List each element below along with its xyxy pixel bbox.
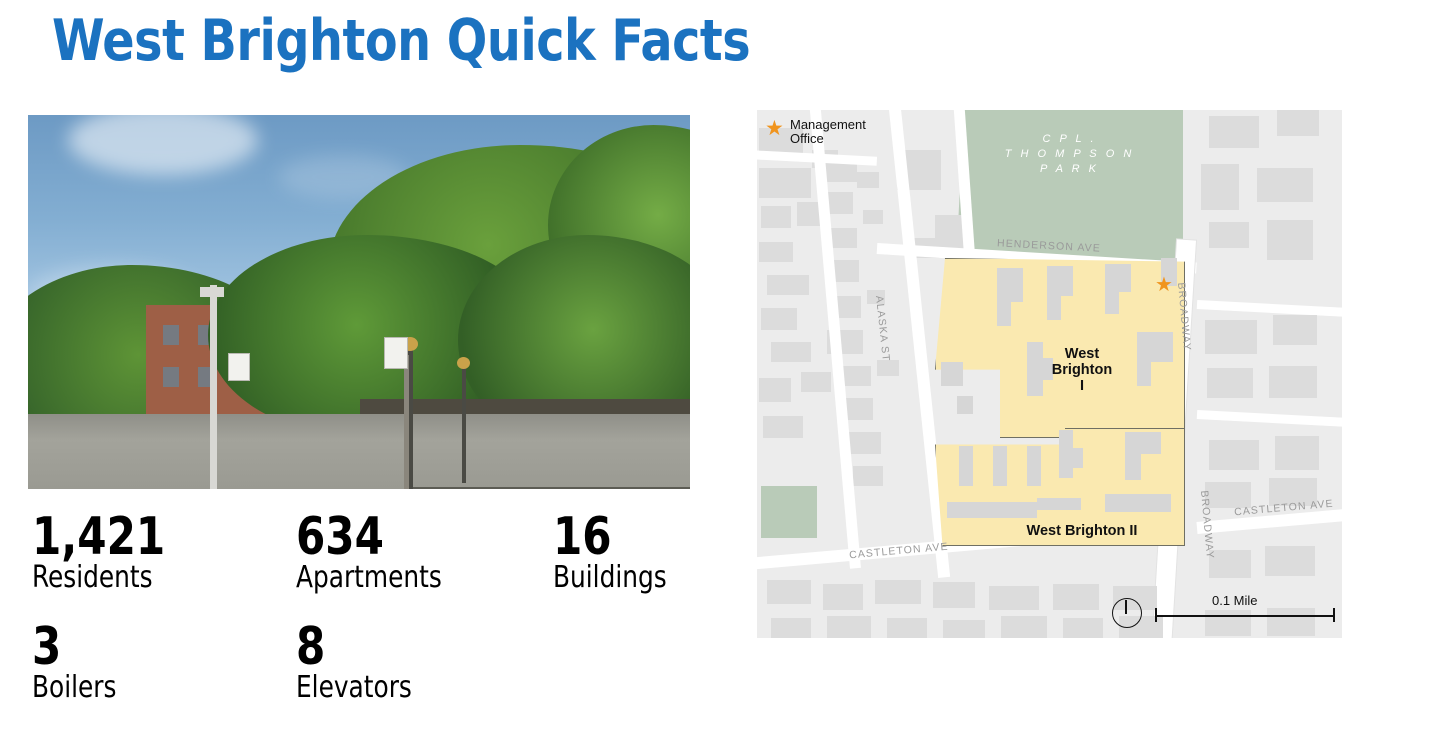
map-campus-building bbox=[1027, 446, 1041, 486]
map-building bbox=[827, 616, 871, 638]
map-label-west-brighton-2: West Brighton II bbox=[977, 523, 1187, 539]
map-campus-building bbox=[1059, 430, 1073, 478]
stat-value: 8 bbox=[296, 622, 409, 672]
map-park-small bbox=[761, 486, 817, 538]
photo-sign bbox=[228, 353, 250, 381]
stat-label: Residents bbox=[32, 562, 168, 594]
map-building bbox=[759, 242, 793, 262]
photo-street bbox=[28, 414, 690, 489]
compass-icon bbox=[1112, 598, 1142, 628]
map-building bbox=[761, 308, 797, 330]
photo-sign bbox=[384, 337, 408, 369]
page-title: West Brighton Quick Facts bbox=[52, 8, 750, 74]
stat-buildings: 16 Buildings bbox=[553, 512, 677, 594]
map-building bbox=[771, 342, 811, 362]
photo-light-pole bbox=[457, 357, 470, 369]
map-park-line: T H O M P S O N bbox=[987, 147, 1152, 162]
map-label-park: C P L . T H O M P S O N P A R K bbox=[987, 132, 1152, 177]
map-building bbox=[1267, 608, 1315, 636]
map-campus-building bbox=[941, 362, 963, 386]
map-street-horizontal bbox=[1197, 410, 1342, 428]
map-building bbox=[1209, 440, 1259, 470]
photo-sign-pole bbox=[404, 355, 409, 489]
map-campus-building bbox=[947, 502, 1037, 518]
map-building bbox=[763, 416, 803, 438]
scale-bar-label: 0.1 Mile bbox=[1212, 593, 1258, 608]
map-building bbox=[759, 168, 811, 198]
map-building bbox=[875, 580, 921, 604]
map-building bbox=[1267, 220, 1313, 260]
map-building bbox=[767, 275, 809, 295]
map-building bbox=[1277, 110, 1319, 136]
map-building bbox=[761, 206, 791, 228]
photo-light-pole bbox=[210, 285, 217, 489]
map-label-west-brighton-1: West Brighton I bbox=[1027, 346, 1137, 394]
map-building bbox=[801, 372, 831, 392]
map-campus-building bbox=[1151, 332, 1173, 362]
map-building bbox=[849, 432, 881, 454]
map-campus-building bbox=[1037, 498, 1081, 510]
map-campus-building bbox=[959, 446, 973, 486]
scale-bar bbox=[1155, 615, 1335, 617]
map-building bbox=[1275, 436, 1319, 470]
scale-bar-tick-right bbox=[1333, 608, 1335, 622]
stat-value: 1,421 bbox=[32, 512, 165, 562]
photo-window bbox=[163, 325, 179, 345]
map-building bbox=[933, 582, 975, 608]
management-office-star-icon: ★ bbox=[1155, 275, 1173, 295]
legend-label: Management Office bbox=[790, 118, 866, 146]
map-building bbox=[989, 586, 1039, 610]
stat-value: 16 bbox=[553, 512, 664, 562]
map-campus-building bbox=[1125, 432, 1141, 480]
map-building bbox=[1053, 584, 1099, 610]
legend-label-line: Office bbox=[790, 132, 866, 146]
map-building bbox=[1265, 546, 1315, 576]
legend-star-icon: ★ bbox=[765, 118, 784, 139]
map-building bbox=[771, 618, 811, 638]
map-building bbox=[767, 580, 811, 604]
map-building bbox=[863, 210, 883, 224]
map-building bbox=[1205, 320, 1257, 354]
map-campus-building bbox=[1011, 268, 1023, 302]
map-campus-building bbox=[1061, 266, 1073, 296]
map-building bbox=[943, 620, 985, 638]
map-campus-building bbox=[993, 446, 1007, 486]
map-campus-building bbox=[1137, 332, 1151, 386]
stat-boilers: 3 Boilers bbox=[32, 622, 124, 704]
map-building bbox=[823, 584, 863, 610]
campus-photo bbox=[28, 115, 690, 489]
map-campus-building bbox=[1119, 264, 1131, 292]
stat-label: Boilers bbox=[32, 672, 116, 704]
map-park-line: C P L . bbox=[987, 132, 1152, 147]
map-building bbox=[1207, 368, 1253, 398]
map-label-line: West bbox=[1027, 346, 1137, 362]
map-campus-building bbox=[957, 396, 973, 414]
map-campus-building bbox=[1073, 448, 1083, 468]
quick-facts-page: West Brighton Quick Facts bbox=[0, 0, 1438, 734]
photo-light-pole bbox=[200, 287, 224, 297]
map-building bbox=[759, 378, 791, 402]
map-building bbox=[1205, 610, 1251, 636]
stat-elevators: 8 Elevators bbox=[296, 622, 422, 704]
map-park-line: P A R K bbox=[987, 162, 1152, 177]
stat-value: 3 bbox=[32, 622, 115, 672]
compass-needle-icon bbox=[1125, 600, 1127, 614]
map-building bbox=[1257, 168, 1313, 202]
map-building bbox=[877, 360, 899, 376]
map-building bbox=[1001, 616, 1047, 638]
stat-value: 634 bbox=[296, 512, 439, 562]
photo-fence-rail bbox=[408, 487, 690, 489]
map-label-line: Brighton bbox=[1027, 362, 1137, 378]
map-building bbox=[853, 466, 883, 486]
stat-label: Buildings bbox=[553, 562, 667, 594]
map-building bbox=[1205, 482, 1251, 508]
stat-label: Elevators bbox=[296, 672, 412, 704]
map-label-line: I bbox=[1027, 378, 1137, 394]
photo-window bbox=[163, 367, 179, 387]
map-street-horizontal bbox=[1197, 300, 1342, 318]
map-building bbox=[1209, 116, 1259, 148]
map-building bbox=[887, 618, 927, 638]
stat-residents: 1,421 Residents bbox=[32, 512, 180, 594]
map-building bbox=[1063, 618, 1103, 638]
map-street-label-alaska: ALASKA ST bbox=[873, 295, 892, 362]
stat-label: Apartments bbox=[296, 562, 442, 594]
map-building bbox=[1201, 164, 1239, 210]
map-building bbox=[1209, 222, 1249, 248]
map-building bbox=[1269, 366, 1317, 398]
photo-light-pole bbox=[462, 363, 466, 483]
stat-apartments: 634 Apartments bbox=[296, 512, 454, 594]
map-campus-building bbox=[997, 268, 1011, 326]
map-campus-building bbox=[1141, 432, 1161, 454]
scale-bar-tick-left bbox=[1155, 608, 1157, 622]
site-map[interactable]: West Brighton I West Brighton II C P L .… bbox=[757, 110, 1342, 638]
map-campus-building bbox=[1105, 264, 1119, 314]
map-campus-building bbox=[1105, 494, 1171, 512]
map-campus-building bbox=[1047, 266, 1061, 320]
legend-label-line: Management bbox=[790, 118, 866, 132]
map-building bbox=[829, 228, 857, 248]
map-building bbox=[857, 172, 879, 188]
map-building bbox=[1273, 315, 1317, 345]
